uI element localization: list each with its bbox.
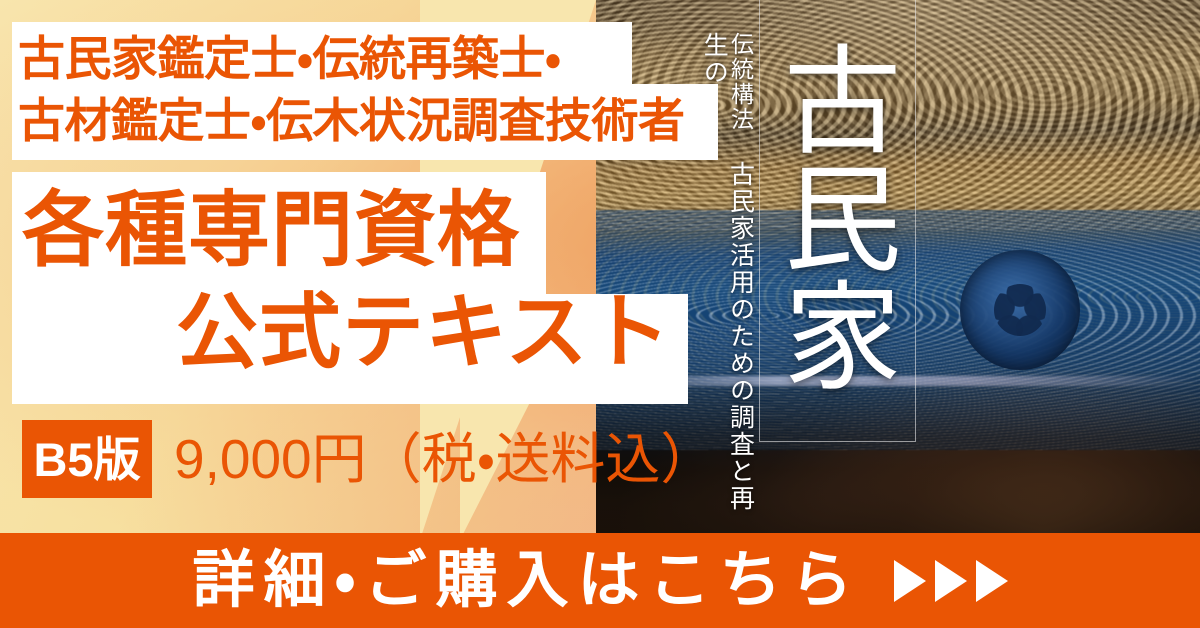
main-title: 各種専門資格 公式テキスト [0,180,690,383]
triangle-right-icon [976,560,1008,602]
triangle-right-icon [894,560,926,602]
headline-line-1: 古民家鑑定士・伝統再築士・ [18,28,718,90]
headline: 古民家鑑定士・伝統再築士・ 古材鑑定士・伝木状況調査技術者 [18,28,718,152]
main-title-line-2: 公式テキスト [0,282,690,384]
cover-title-text: 古民家 [774,6,900,426]
price-row: B5版 9,000円（税・送料込） [22,420,715,498]
cover-subtitle-lead: 伝統構法 [728,32,753,132]
triangle-right-icon [935,560,967,602]
cta-label: 詳細・ご購入はこちら [192,550,861,612]
main-title-line-1: 各種専門資格 [0,180,690,282]
family-crest-medallion [960,250,1080,370]
headline-line-2: 古材鑑定士・伝木状況調査技術者 [18,90,718,152]
cta-arrow-group [894,560,1008,602]
format-badge: B5版 [22,420,152,498]
price-label: 9,000円（税・送料込） [174,432,715,487]
promo-banner: 古民家 伝統構法 古民家活用のための調査と再生の 古民家鑑定士・伝統再築士・ 古… [0,0,1200,628]
cta-bar[interactable]: 詳細・ご購入はこちら [0,533,1200,628]
